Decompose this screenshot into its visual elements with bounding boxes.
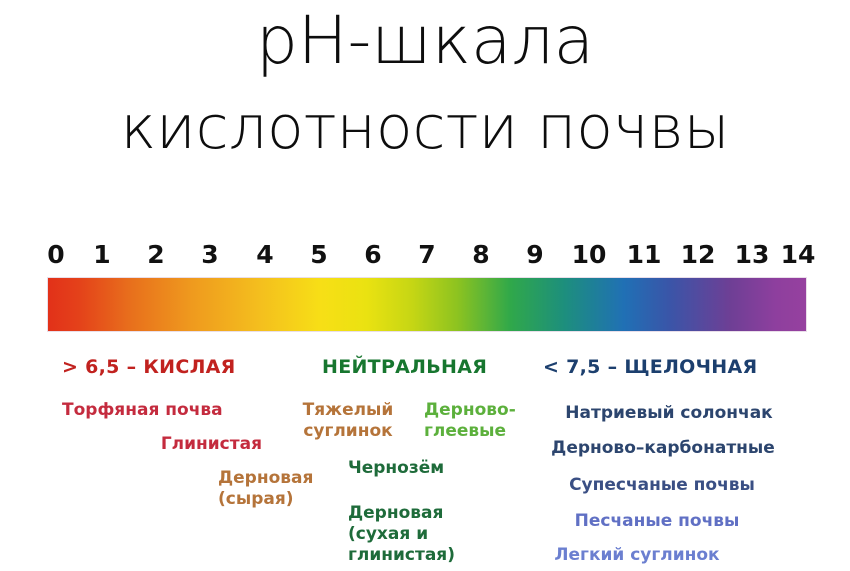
scale-tick-13: 13 <box>735 240 770 269</box>
scale-tick-5: 5 <box>310 240 327 269</box>
title-line-secondary: кислотности почвы <box>0 92 850 164</box>
soil-glinistaya: Глинистая <box>62 434 262 455</box>
scale-tick-12: 12 <box>681 240 716 269</box>
scale-tick-4: 4 <box>256 240 273 269</box>
scale-tick-1: 1 <box>93 240 110 269</box>
soil-torfyanaya-pochva: Торфяная почва <box>62 400 262 421</box>
ph-gradient-bar <box>48 278 806 331</box>
category-header-neutral: НЕЙТРАЛЬНАЯ <box>322 355 487 379</box>
scale-tick-8: 8 <box>472 240 489 269</box>
soil-natrievyy-solonchak: Натриевый солончак <box>548 403 790 424</box>
soil-dernovaya-sukhaya-glinistaya: Дерновая (сухая и глинистая) <box>348 503 498 566</box>
soil-dernovo-gleevye: Дерново- глеевые <box>424 400 534 442</box>
scale-tick-0: 0 <box>47 240 64 269</box>
soil-legkiy-suglinok: Легкий суглинок <box>524 545 750 566</box>
soil-supeschanye-pochvy: Супесчаные почвы <box>540 475 784 496</box>
soil-chernozyom: Чернозём <box>348 458 488 479</box>
title-line-primary: pH-шкала <box>0 2 850 80</box>
ph-scale-ruler: 01234567891011121314 <box>48 240 806 270</box>
category-header-acidic: > 6,5 – КИСЛАЯ <box>62 355 236 379</box>
category-header-alkaline: < 7,5 – ЩЕЛОЧНАЯ <box>543 355 757 379</box>
soil-dernovo-karbonatnye: Дерново–карбонатные <box>536 438 790 459</box>
scale-tick-7: 7 <box>418 240 435 269</box>
scale-tick-3: 3 <box>201 240 218 269</box>
scale-tick-6: 6 <box>364 240 381 269</box>
scale-tick-14: 14 <box>781 240 816 269</box>
scale-tick-9: 9 <box>526 240 543 269</box>
scale-tick-11: 11 <box>627 240 662 269</box>
page-title: pH-шкала кислотности почвы <box>0 2 850 164</box>
soil-peschanye-pochvy: Песчаные почвы <box>540 511 774 532</box>
scale-tick-2: 2 <box>147 240 164 269</box>
soil-tyazhelyy-suglinok: Тяжелый суглинок <box>294 400 402 442</box>
scale-tick-10: 10 <box>572 240 607 269</box>
soil-dernovaya-syraya: Дерновая (сырая) <box>218 468 328 510</box>
